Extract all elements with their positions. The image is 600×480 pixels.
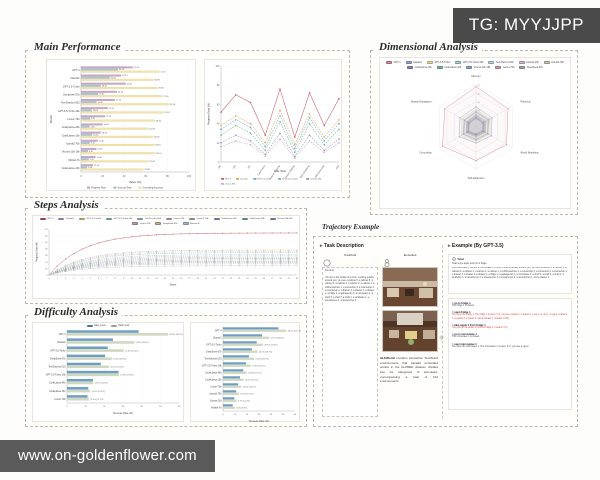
svg-text:Lemur-70b: Lemur-70b — [54, 398, 66, 401]
target-icon — [452, 257, 456, 261]
svg-text:Web Shopping: Web Shopping — [300, 165, 311, 179]
svg-text:17: 17 — [188, 278, 191, 280]
svg-text:Spatial Navigation: Spatial Navigation — [411, 99, 432, 103]
svg-text:29: 29 — [288, 278, 291, 280]
svg-text:7: 7 — [106, 278, 108, 280]
trajectory-step: > take apple 1 from fridge 1You pick up … — [452, 324, 568, 330]
legend-item: DeepSeek-67b — [155, 222, 177, 224]
svg-text:13.9% (14.0%): 13.9% (14.0%) — [95, 383, 109, 385]
legend-label: Lemur-13b — [174, 218, 185, 220]
svg-text:Sub-Task: Sub-Task — [274, 169, 287, 173]
svg-text:68.70: 68.70 — [156, 153, 162, 155]
svg-text:20: 20 — [103, 406, 106, 408]
svg-text:20: 20 — [217, 142, 220, 145]
svg-text:GPT-3.5-Turbo-16k: GPT-3.5-Turbo-16k — [202, 365, 223, 368]
textworld-column: TextWorld — [322, 253, 378, 268]
svg-text:DeepSeek-67b: DeepSeek-67b — [50, 359, 66, 361]
svg-text:Card Game: Card Game — [257, 164, 267, 176]
svg-text:8: 8 — [115, 278, 117, 280]
panel-title-difficulty-analysis: Difficulty Analysis — [30, 306, 122, 318]
svg-text:DB: DB — [218, 165, 222, 169]
svg-text:Lemur-70b: Lemur-70b — [210, 386, 222, 389]
svg-text:8.1% (9.8%): 8.1% (9.8%) — [236, 408, 247, 410]
step-result: You pick up the apple 1 from the fridge … — [452, 327, 568, 330]
svg-text:68.10: 68.10 — [156, 145, 162, 147]
alfworld-name: ALFWorld — [380, 356, 395, 360]
svg-text:12.6% (15.1%): 12.6% (15.1%) — [243, 387, 257, 389]
svg-text:House Holding: House Holding — [285, 165, 296, 179]
svg-text:41.40: 41.40 — [127, 83, 133, 85]
legend-swatch — [437, 66, 443, 69]
svg-text:40: 40 — [45, 248, 48, 250]
svg-text:40: 40 — [217, 123, 220, 126]
svg-text:Vicuna-13b-16k: Vicuna-13b-16k — [62, 151, 80, 154]
svg-text:19.3% (23.1%): 19.3% (23.1%) — [252, 366, 266, 368]
settings-gear-icon — [439, 335, 444, 340]
svg-text:10: 10 — [45, 268, 48, 270]
svg-text:40: 40 — [123, 174, 126, 178]
svg-text:47.90: 47.90 — [134, 67, 140, 69]
legend-item: Lemur-13b — [166, 218, 184, 220]
svg-text:50: 50 — [159, 406, 162, 408]
svg-text:20: 20 — [246, 414, 249, 416]
svg-text:26: 26 — [263, 278, 266, 280]
svg-text:0: 0 — [218, 161, 220, 164]
legend-swatch — [544, 61, 550, 64]
svg-text:Grounding: Grounding — [419, 151, 432, 155]
legend-label: GPT-3.5-Turbo — [434, 61, 450, 64]
legend-item: CodeLlama-13b — [214, 218, 237, 220]
legend-item: Lemur-70b — [495, 66, 514, 69]
svg-text:1: 1 — [57, 278, 59, 280]
svg-text:62.46: 62.46 — [149, 161, 155, 163]
svg-text:50: 50 — [282, 414, 285, 416]
telegram-watermark: TG: MYYJJPP — [453, 8, 600, 43]
legend-label: CodeLlama-34b — [444, 66, 461, 69]
legend-item: Lemur-70b — [132, 222, 150, 224]
svg-text:CodeLlama-34b: CodeLlama-34b — [49, 383, 66, 385]
svg-text:4: 4 — [82, 278, 84, 280]
legend-label: Easy Level — [94, 325, 105, 327]
svg-text:21: 21 — [221, 278, 224, 280]
svg-text:Progress Rate: Progress Rate — [91, 186, 106, 189]
legend-item: Text-Davinci-003 — [137, 218, 161, 220]
legend-label: GPT-4 — [47, 218, 53, 220]
legend-swatch — [406, 61, 412, 64]
svg-text:60: 60 — [178, 406, 181, 408]
svg-text:14: 14 — [164, 278, 167, 280]
legend-item: Llama2-13b — [519, 61, 539, 64]
svg-text:24: 24 — [246, 278, 249, 280]
legend-swatch — [407, 66, 413, 69]
svg-text:Text-Davinci-003: Text-Davinci-003 — [48, 366, 66, 369]
trajectory-step: > open microwave 1You open the microwave… — [452, 343, 568, 349]
legend-swatch — [166, 218, 172, 220]
svg-text:GPT-3.5-Turbo: GPT-3.5-Turbo — [50, 350, 66, 353]
svg-text:Success Rate (%): Success Rate (%) — [249, 420, 269, 423]
textworld-label: TextWorld — [322, 253, 378, 257]
svg-text:81.30: 81.30 — [170, 104, 176, 106]
legend-label: Text-Davinci-003 — [145, 218, 161, 220]
task-description-column: ▸ Task Description TextWorld Embodied — [320, 243, 438, 421]
svg-text:Mistral-7b: Mistral-7b — [69, 159, 81, 162]
kitchen-scene-1 — [383, 268, 438, 307]
svg-text:20: 20 — [45, 262, 48, 264]
svg-text:9.4% (11.3%): 9.4% (11.3%) — [238, 401, 250, 403]
legend-swatch — [214, 218, 220, 220]
svg-text:0: 0 — [66, 406, 68, 408]
svg-text:46.2% (52.7%): 46.2% (52.7%) — [288, 331, 301, 333]
legend-item: CodeLlama-34b — [437, 66, 462, 69]
svg-text:57.88: 57.88 — [145, 169, 151, 171]
caret-icon: ▸ — [320, 243, 323, 249]
legend-item: DeepSeek-67b — [519, 66, 542, 69]
svg-text:Text-Davinci-003: Text-Davinci-003 — [204, 358, 222, 361]
svg-text:62.46: 62.46 — [149, 128, 155, 130]
svg-text:GPT-3.5-Turbo-16k: GPT-3.5-Turbo-16k — [58, 110, 80, 113]
svg-text:60: 60 — [294, 414, 297, 416]
legend-item: GPT-3.5-Turbo-16k — [455, 61, 483, 64]
svg-text:68.34: 68.34 — [156, 120, 162, 122]
svg-text:75.20: 75.20 — [163, 96, 169, 98]
svg-text:27.6% (27.8%): 27.6% (27.8%) — [120, 375, 134, 377]
svg-text:Deepseek-67b: Deepseek-67b — [63, 94, 80, 97]
legend-label: DeepSeek-67b — [163, 223, 178, 225]
caret-icon: ▸ — [448, 243, 451, 249]
svg-text:Text-Davinci-003: Text-Davinci-003 — [61, 102, 80, 105]
legend-label: CodeLlama-34b — [249, 218, 265, 220]
svg-text:5: 5 — [90, 278, 92, 280]
svg-text:CodeLlama-13b: CodeLlama-13b — [49, 391, 66, 393]
embodied-column: Embodied — [382, 253, 438, 268]
legend-swatch — [270, 218, 276, 220]
svg-text:6: 6 — [98, 278, 100, 280]
svg-text:9: 9 — [123, 278, 125, 280]
svg-text:50: 50 — [478, 85, 481, 87]
svg-text:Lemur-70b: Lemur-70b — [67, 118, 80, 121]
svg-text:Grounding Accuracy: Grounding Accuracy — [142, 186, 164, 189]
svg-text:0: 0 — [222, 414, 224, 416]
legend-item: CodeLlama-13b — [407, 66, 432, 69]
embodied-photo-top — [382, 267, 438, 307]
legend-swatch — [242, 218, 248, 220]
svg-text:60: 60 — [144, 174, 147, 178]
svg-text:24.6% (35.9%): 24.6% (35.9%) — [136, 343, 150, 345]
panel-title-trajectory-example: Trajectory Example — [318, 223, 383, 231]
steps-line-chart: 0102030405060700123456789101112131415161… — [33, 225, 301, 287]
legend-item: Mistral-7b — [183, 222, 200, 224]
svg-text:GPT-3.5-Turbo: GPT-3.5-Turbo — [257, 178, 272, 181]
svg-text:GPT-3.5-Turbo-16k: GPT-3.5-Turbo-16k — [46, 374, 67, 377]
legend-swatch — [519, 61, 525, 64]
svg-text:30: 30 — [45, 255, 48, 257]
legend-label: Llama2-13b — [526, 61, 539, 64]
svg-text:2: 2 — [65, 278, 67, 280]
legend-label: Text-Davinci-003 — [496, 61, 514, 64]
svg-text:22: 22 — [230, 278, 233, 280]
panel-dimensional-analysis: Dimensional Analysis GPT-4Claude2GPT-3.5… — [370, 50, 578, 215]
svg-text:CodeLlama-34b: CodeLlama-34b — [205, 373, 222, 375]
legend-label: CodeLlama-13b — [415, 66, 432, 69]
legend-item: Claude2 — [58, 218, 74, 220]
svg-text:25: 25 — [255, 278, 258, 280]
legend-swatch — [132, 222, 138, 224]
svg-text:3: 3 — [73, 278, 75, 280]
difficulty-left-card: Easy LevelHard Level 0102030405060GPT-43… — [32, 322, 184, 422]
svg-text:38.4% (54.2%): 38.4% (54.2%) — [170, 334, 184, 336]
svg-text:19.90: 19.90 — [103, 124, 109, 126]
svg-text:70.80: 70.80 — [158, 88, 164, 90]
steps-card: > go to fridge 1The fridge 1 is closed.>… — [448, 298, 572, 410]
svg-text:Progress Rate (%): Progress Rate (%) — [36, 242, 39, 262]
svg-text:World Modeling: World Modeling — [520, 151, 539, 155]
svg-text:Memory: Memory — [471, 74, 481, 78]
svg-text:KG: KG — [248, 165, 252, 169]
goal-label: Goal — [458, 257, 464, 261]
svg-text:28: 28 — [279, 278, 282, 280]
svg-text:66.98: 66.98 — [154, 80, 160, 82]
svg-text:14.2% (17.0%): 14.2% (17.0%) — [245, 380, 259, 382]
legend-label: Mistral-7b — [190, 223, 200, 225]
svg-text:20: 20 — [213, 278, 216, 280]
svg-text:37.20: 37.20 — [122, 75, 128, 77]
legend-label: DeepSeek-67b — [527, 66, 543, 69]
panel-trajectory-example: Trajectory Example ▸ Task Description Te… — [313, 236, 578, 427]
legend-label: CodeLlama-13b — [221, 218, 237, 220]
difficulty-right-card: 0102030405060GPT-446.2% (52.7%)Claude232… — [190, 322, 300, 422]
svg-text:0: 0 — [48, 278, 50, 280]
svg-text:100: 100 — [215, 65, 220, 68]
legend-swatch — [137, 218, 143, 220]
svg-text:GPT-4: GPT-4 — [59, 334, 66, 336]
main-performance-bar-chart: 020406080100GPT-447.9034.3072.72Claude23… — [47, 60, 197, 192]
trajectory-divider — [442, 245, 443, 419]
svg-text:10: 10 — [234, 414, 237, 416]
svg-text:20.4% (23.9%): 20.4% (23.9%) — [113, 359, 127, 361]
svg-text:24.70: 24.70 — [109, 108, 115, 110]
legend-swatch — [106, 218, 112, 220]
legend-label: Vicuna-13b-16k — [277, 218, 292, 220]
legend-swatch — [111, 325, 117, 327]
legend-swatch — [386, 61, 392, 64]
legend-item: Easy Level — [87, 325, 106, 327]
goal-header: Goal — [452, 257, 568, 261]
panel-title-steps-analysis: Steps Analysis — [30, 199, 103, 211]
svg-text:32.5% (38.4%): 32.5% (38.4%) — [271, 338, 285, 340]
svg-text:10: 10 — [84, 406, 87, 408]
svg-text:Avg: Avg — [335, 164, 340, 170]
svg-text:27: 27 — [271, 278, 274, 280]
svg-text:15: 15 — [172, 278, 175, 280]
difficulty-bar-chart-a: 0102030405060GPT-438.4% (54.2%)Claude224… — [33, 327, 185, 415]
svg-text:40: 40 — [270, 414, 273, 416]
legend-item: Claude2 — [406, 61, 422, 64]
svg-text:Claude2: Claude2 — [240, 179, 249, 181]
svg-text:11: 11 — [139, 278, 142, 280]
legend-label: Lemur-70b — [503, 66, 515, 69]
svg-text:Model: Model — [49, 115, 53, 123]
svg-text:CodeLlama-13b: CodeLlama-13b — [62, 167, 80, 170]
svg-text:40: 40 — [140, 406, 143, 408]
svg-text:DeepSeek-67b: DeepSeek-67b — [206, 352, 222, 354]
legend-label: Llama2-70b — [551, 61, 564, 64]
svg-text:14.20: 14.20 — [97, 149, 103, 151]
svg-text:60: 60 — [217, 103, 220, 106]
legend-label: Lemur-70b — [140, 223, 151, 225]
svg-text:Steps: Steps — [170, 282, 177, 286]
legend-item: GPT-3.5-Turbo — [79, 218, 101, 220]
svg-text:22.20: 22.20 — [106, 116, 112, 118]
legend-swatch — [488, 61, 494, 64]
goal-card: Goal Heat some apple and put in fridge. … — [448, 254, 572, 294]
flow-arrow-icon: → — [434, 333, 438, 338]
goal-text: Heat some apple and put in fridge. — [452, 263, 568, 266]
legend-item: GPT-4 — [40, 218, 54, 220]
embodied-label: Embodied — [382, 253, 438, 257]
example-title: ▸ Example (By GPT-3.5) — [448, 243, 572, 249]
svg-text:28.1% (33.2%): 28.1% (33.2%) — [264, 345, 278, 347]
svg-text:18.30: 18.30 — [102, 132, 108, 134]
svg-text:Llama2-70b: Llama2-70b — [310, 179, 322, 181]
legend-label: GPT-4 — [394, 61, 401, 64]
svg-text:12: 12 — [147, 278, 150, 280]
svg-text:Mistral-7b: Mistral-7b — [211, 407, 222, 410]
svg-text:19: 19 — [205, 278, 208, 280]
legend-swatch — [519, 66, 525, 69]
svg-text:11.0% (11.7%): 11.0% (11.7%) — [90, 399, 103, 401]
svg-text:Web Browsing: Web Browsing — [314, 164, 325, 178]
textworld-observation-text: [Init obs] You are in the middle of a ro… — [325, 270, 375, 303]
svg-text:20: 20 — [101, 174, 104, 178]
legend-swatch — [58, 218, 64, 220]
svg-text:80: 80 — [217, 84, 220, 87]
svg-text:OS: OS — [233, 165, 237, 169]
svg-text:GPT-3.5-Turbo: GPT-3.5-Turbo — [206, 344, 222, 347]
svg-text:Claude2: Claude2 — [70, 77, 80, 80]
svg-text:70: 70 — [45, 229, 48, 231]
legend-swatch — [87, 325, 93, 327]
svg-text:Success Rate (%): Success Rate (%) — [113, 412, 133, 415]
svg-text:18.1% (22.4%): 18.1% (22.4%) — [110, 367, 124, 369]
svg-text:CodeLlama-13b: CodeLlama-13b — [62, 134, 80, 137]
legend-swatch — [183, 222, 189, 224]
svg-text:76.20: 76.20 — [164, 112, 170, 114]
legend-item: Text-Davinci-003 — [488, 61, 513, 64]
legend-swatch — [466, 66, 472, 69]
svg-text:Claude2: Claude2 — [57, 343, 66, 345]
legend-swatch — [155, 222, 161, 224]
legend-item: Llama2-70b — [544, 61, 564, 64]
svg-text:21.8% (30.4%): 21.8% (30.4%) — [125, 351, 139, 353]
svg-text:Claude2: Claude2 — [213, 338, 222, 340]
steps-chart-card: GPT-4Claude2GPT-3.5-TurboGPT-3.5-Turbo-1… — [32, 215, 300, 299]
svg-text:Text-Davinci-003: Text-Davinci-003 — [282, 178, 298, 181]
legend-label: GPT-3.5-Turbo-16k — [463, 61, 484, 64]
panel-title-main-performance: Main Performance — [30, 41, 124, 53]
radar-card: GPT-4Claude2GPT-3.5-TurboGPT-3.5-Turbo-1… — [379, 57, 571, 209]
svg-text:Lemur-70b: Lemur-70b — [225, 183, 236, 186]
svg-text:Value (%): Value (%) — [129, 180, 142, 184]
svg-text:16.8% (19.7%): 16.8% (19.7%) — [248, 373, 262, 375]
trajectory-step: > open fridge 1You open the fridge 1. Th… — [452, 311, 568, 321]
svg-text:Progress Rate (%): Progress Rate (%) — [207, 103, 211, 125]
step-result: You open the microwave 1. The microwave … — [452, 346, 568, 349]
steps-legend: GPT-4Claude2GPT-3.5-TurboGPT-3.5-Turbo-1… — [33, 216, 299, 225]
main-performance-bar-card: 020406080100GPT-447.9034.3072.72Claude23… — [46, 59, 196, 191]
difficulty-bar-chart-b: 0102030405060GPT-446.2% (52.7%)Claude232… — [191, 323, 301, 423]
legend-label: Claude2 — [413, 61, 422, 64]
legend-item: Lemur2-70b — [189, 218, 208, 220]
legend-label: Claude2 — [66, 218, 74, 220]
legend-swatch — [455, 61, 461, 64]
panel-difficulty-analysis: Difficulty Analysis Easy LevelHard Level… — [25, 315, 307, 427]
legend-item: Vicuna-13b-16k — [466, 66, 490, 69]
svg-text:23: 23 — [238, 278, 241, 280]
svg-text:11.30: 11.30 — [94, 165, 100, 167]
site-watermark: www.on-goldenflower.com — [0, 440, 215, 472]
legend-label: Hard Level — [118, 325, 129, 327]
legend-swatch — [427, 61, 433, 64]
svg-text:GPT-3.5-Turbo: GPT-3.5-Turbo — [63, 85, 80, 88]
sub-task-line-chart: 020406080100DBOSKGCard GameLateral Think… — [205, 60, 343, 192]
kitchen-scene-2 — [383, 311, 438, 352]
svg-text:80: 80 — [166, 174, 169, 178]
svg-text:10.9% (13.2%): 10.9% (13.2%) — [240, 394, 254, 396]
poster-root: Main Performance 020406080100GPT-447.903… — [0, 0, 600, 480]
svg-text:Self-Reflection: Self-Reflection — [468, 176, 485, 180]
svg-text:13.40: 13.40 — [96, 157, 102, 159]
svg-text:GPT-4: GPT-4 — [72, 69, 80, 72]
svg-text:CodeLlama-34b: CodeLlama-34b — [62, 126, 80, 129]
task-description-title: ▸ Task Description — [320, 243, 438, 249]
svg-text:11.4% (12.4%): 11.4% (12.4%) — [92, 391, 105, 393]
trajectory-step: > go to microwave 1The microwave 1 is cl… — [452, 333, 568, 339]
svg-text:Success Rate: Success Rate — [117, 186, 132, 189]
svg-text:21.6% (25.9%): 21.6% (25.9%) — [256, 359, 270, 361]
legend-item: GPT-4 — [386, 61, 400, 64]
legend-swatch — [79, 218, 85, 220]
radar-legend: GPT-4Claude2GPT-3.5-TurboGPT-3.5-Turbo-1… — [380, 58, 570, 69]
legend-label: GPT-3.5-Turbo-16k — [114, 218, 133, 220]
svg-text:30: 30 — [258, 414, 261, 416]
svg-text:33.20: 33.20 — [118, 92, 124, 94]
svg-text:CodeLlama-13b: CodeLlama-13b — [205, 380, 222, 382]
panel-main-performance: Main Performance 020406080100GPT-447.903… — [25, 50, 350, 198]
svg-text:30: 30 — [122, 406, 125, 408]
svg-text:100: 100 — [187, 174, 192, 178]
legend-swatch — [40, 218, 46, 220]
svg-text:GPT-4: GPT-4 — [225, 179, 232, 181]
main-performance-line-card: 020406080100DBOSKGCard GameLateral Think… — [204, 59, 342, 191]
legend-item: Vicuna-13b-16k — [270, 218, 293, 220]
svg-text:30: 30 — [296, 278, 299, 280]
svg-text:0: 0 — [46, 275, 48, 277]
observation-text: [Init observation] You are in the middle… — [452, 267, 568, 280]
svg-text:50: 50 — [45, 242, 48, 244]
svg-text:GPT-4: GPT-4 — [215, 331, 222, 333]
svg-text:13: 13 — [155, 278, 158, 280]
svg-text:0: 0 — [80, 174, 82, 178]
alfworld-desc-text: contains interactive TextWorld environme… — [380, 356, 438, 383]
legend-label: Vicuna-13b-16k — [474, 66, 491, 69]
textworld-observation-card: [Init obs] You are in the middle of a ro… — [322, 267, 378, 417]
trajectory-steps-list: > go to fridge 1The fridge 1 is closed.>… — [452, 302, 568, 349]
svg-text:24.0% (28.7%): 24.0% (28.7%) — [259, 352, 273, 354]
example-column: ▸ Example (By GPT-3.5) Goal Heat some ap… — [448, 243, 572, 421]
svg-text:10: 10 — [131, 278, 134, 280]
svg-text:Llama2-70b: Llama2-70b — [66, 142, 80, 145]
legend-label: Lemur2-70b — [197, 218, 209, 220]
